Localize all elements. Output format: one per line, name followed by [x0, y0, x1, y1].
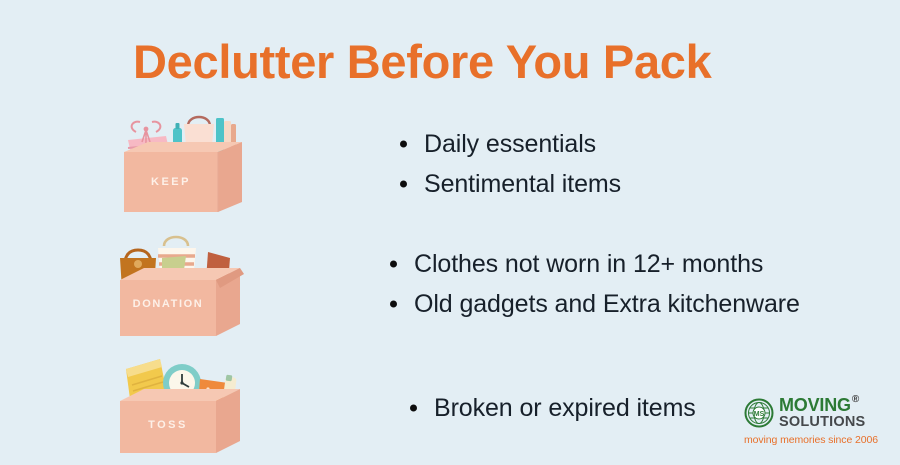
cardboard-box-toss-icon: TOSS [112, 345, 242, 455]
cardboard-box-donation-icon: DONATION [112, 228, 242, 338]
list-item: Daily essentials [394, 124, 621, 165]
box-label-toss: TOSS [120, 419, 216, 431]
declutter-group-keep: KEEP Daily essentials Sentimental items [118, 108, 621, 218]
logo-lockup: MS MOVING ® SOLUTIONS [744, 396, 890, 431]
slide-canvas: Declutter Before You Pack [0, 0, 900, 465]
declutter-group-toss: TOSS Broken or expired items [112, 345, 696, 455]
logo-word-moving: MOVING [779, 396, 851, 414]
cardboard-box-keep-icon: KEEP [118, 108, 248, 218]
bullet-list-keep: Daily essentials Sentimental items [394, 124, 621, 205]
logo-tagline: moving memories since 2006 [744, 434, 890, 446]
logo-wordmark: MOVING ® SOLUTIONS [779, 396, 865, 431]
bullet-list-toss: Broken or expired items [404, 388, 696, 429]
bullet-list-donation: Clothes not worn in 12+ months Old gadge… [384, 244, 800, 325]
logo-word-solutions: SOLUTIONS [779, 414, 865, 431]
brand-logo[interactable]: MS MOVING ® SOLUTIONS moving memories si… [744, 396, 890, 446]
page-title: Declutter Before You Pack [133, 36, 711, 88]
list-item: Old gadgets and Extra kitchenware [384, 284, 800, 325]
globe-ms-monogram-icon: MS [744, 398, 774, 428]
list-item: Sentimental items [394, 164, 621, 205]
box-label-donation: DONATION [120, 298, 216, 310]
box-label-keep: KEEP [124, 176, 218, 188]
declutter-group-donation: DONATION Clothes not worn in 12+ months … [112, 228, 800, 338]
list-item: Broken or expired items [404, 388, 696, 429]
registered-trademark-icon: ® [852, 395, 859, 405]
svg-text:MS: MS [754, 412, 765, 419]
list-item: Clothes not worn in 12+ months [384, 244, 800, 285]
